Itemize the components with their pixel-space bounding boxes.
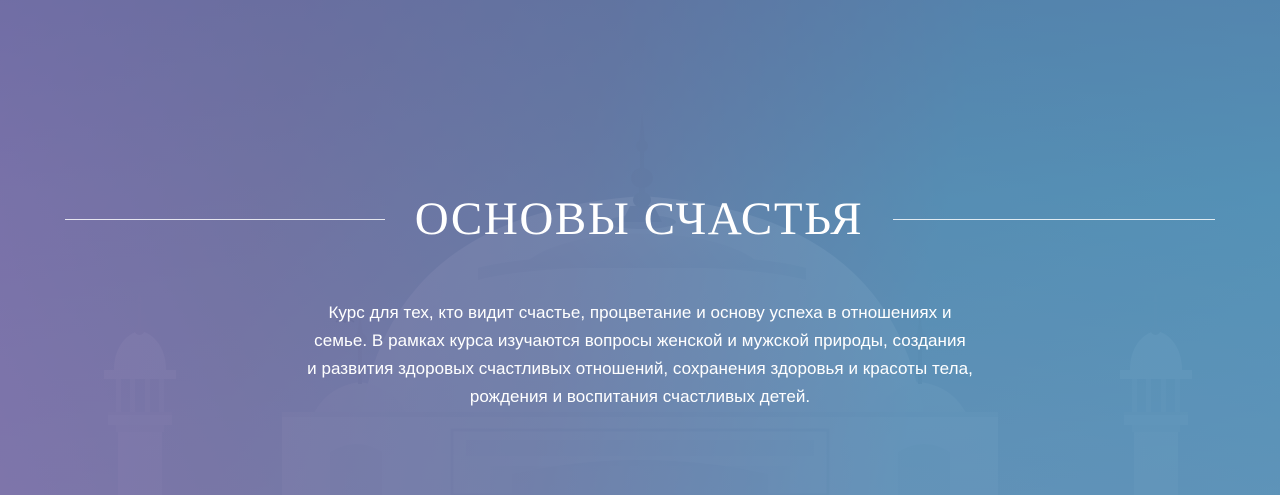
hero-banner: ОСНОВЫ СЧАСТЬЯ Курс для тех, кто видит с… (0, 0, 1280, 495)
hero-description: Курс для тех, кто видит счастье, процвет… (284, 299, 996, 411)
hero-content: ОСНОВЫ СЧАСТЬЯ Курс для тех, кто видит с… (0, 0, 1280, 495)
title-rule-left (65, 219, 385, 220)
title-row: ОСНОВЫ СЧАСТЬЯ (0, 196, 1280, 243)
hero-description-line-3: и развития здоровых счастливых отношений… (284, 355, 996, 383)
page-title: ОСНОВЫ СЧАСТЬЯ (415, 196, 863, 243)
hero-description-line-1: Курс для тех, кто видит счастье, процвет… (284, 299, 996, 327)
hero-description-line-4: рождения и воспитания счастливых детей. (284, 383, 996, 411)
title-rule-right (893, 219, 1215, 220)
hero-description-line-2: семье. В рамках курса изучаются вопросы … (284, 327, 996, 355)
